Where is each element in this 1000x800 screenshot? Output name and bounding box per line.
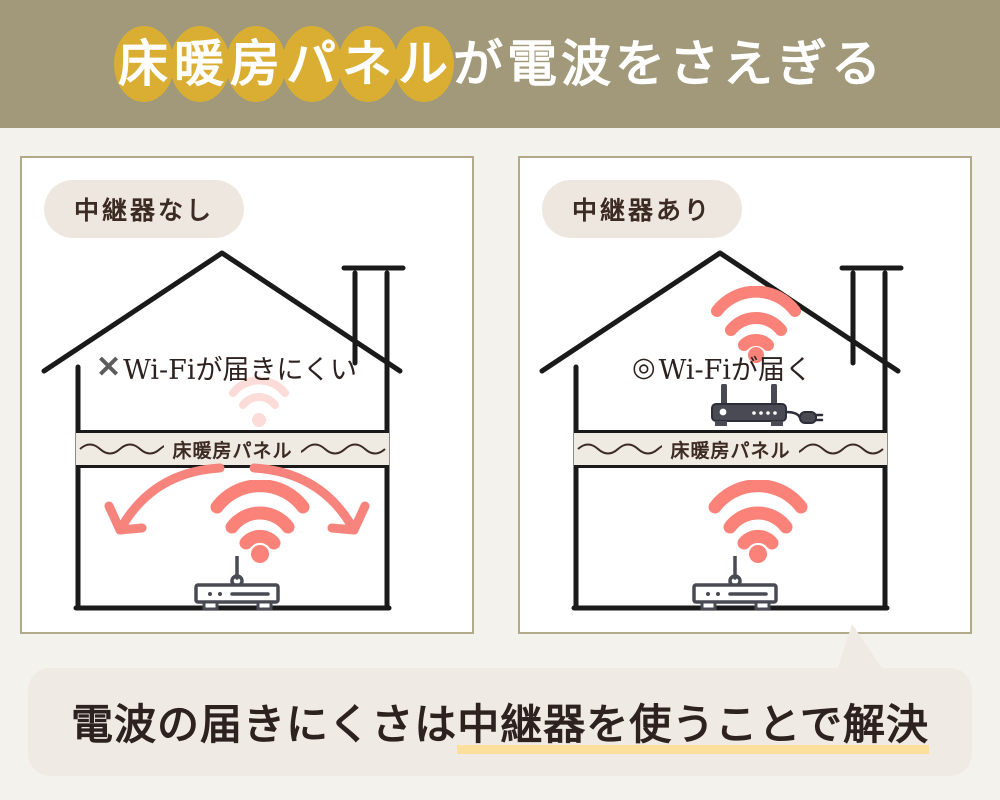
panel-no-repeater: 中継器なし 床暖房パネル <box>20 156 474 634</box>
router-icon-bottom-right <box>680 556 790 610</box>
router-icon-bottom-left <box>182 556 292 610</box>
speech-bubble-tail <box>836 624 886 674</box>
footer-text-highlighted: 中継器を使うことで解決 <box>457 691 929 754</box>
status-text-with-repeater: Wi-Fiが届く <box>659 348 812 387</box>
header-plain-char-0: が <box>452 39 506 89</box>
panel-with-repeater: 中継器あり <box>518 156 972 634</box>
status-label-no-repeater: ✕ Wi-Fiが届きにくい <box>96 348 357 387</box>
repeater-icon <box>698 384 824 432</box>
header-plain-char-7: る <box>830 39 884 89</box>
floor-heating-band-left: 床暖房パネル <box>76 430 389 468</box>
header-highlight-char-3: パ <box>284 26 340 102</box>
footer-callout: 電波の届きにくさは 中継器を使うことで解決 <box>28 668 972 776</box>
house-diagram-no-repeater: 床暖房パネル <box>22 158 472 632</box>
header-plain-char-4: さ <box>668 39 722 89</box>
wifi-icon-strong-lower <box>708 480 808 564</box>
header-highlight-char-1: 暖 <box>172 26 228 102</box>
footer-text-plain: 電波の届きにくさは <box>71 691 457 752</box>
header-plain-char-5: え <box>722 39 776 89</box>
header-plain-char-2: 波 <box>560 39 614 89</box>
status-label-with-repeater: ◎ Wi-Fiが届く <box>632 348 812 387</box>
header-highlight-char-2: 房 <box>228 26 284 102</box>
header-plain-char-1: 電 <box>506 39 560 89</box>
double-circle-mark-icon: ◎ <box>632 352 656 383</box>
header-plain-char-3: を <box>614 39 668 89</box>
floor-panel-label-left: 床暖房パネル <box>164 436 300 463</box>
header-highlight-char-5: ル <box>396 26 452 102</box>
house-diagram-with-repeater: 床暖房パネル <box>520 158 970 632</box>
wifi-icon-strong-lower <box>210 480 310 564</box>
floor-panel-label-right: 床暖房パネル <box>662 436 798 463</box>
header-highlight-char-4: ネ <box>340 26 396 102</box>
status-text-no-repeater: Wi-Fiが届きにくい <box>123 348 357 387</box>
header-band: 床暖房パネルが電波をさえぎる <box>0 0 1000 128</box>
header-highlight-char-0: 床 <box>116 26 172 102</box>
cross-mark-icon: ✕ <box>96 350 121 385</box>
header-plain-char-6: ぎ <box>776 39 830 89</box>
page-title: 床暖房パネルが電波をさえぎる <box>116 26 884 102</box>
footer-text: 電波の届きにくさは 中継器を使うことで解決 <box>71 691 929 754</box>
floor-heating-band-right: 床暖房パネル <box>574 430 887 468</box>
